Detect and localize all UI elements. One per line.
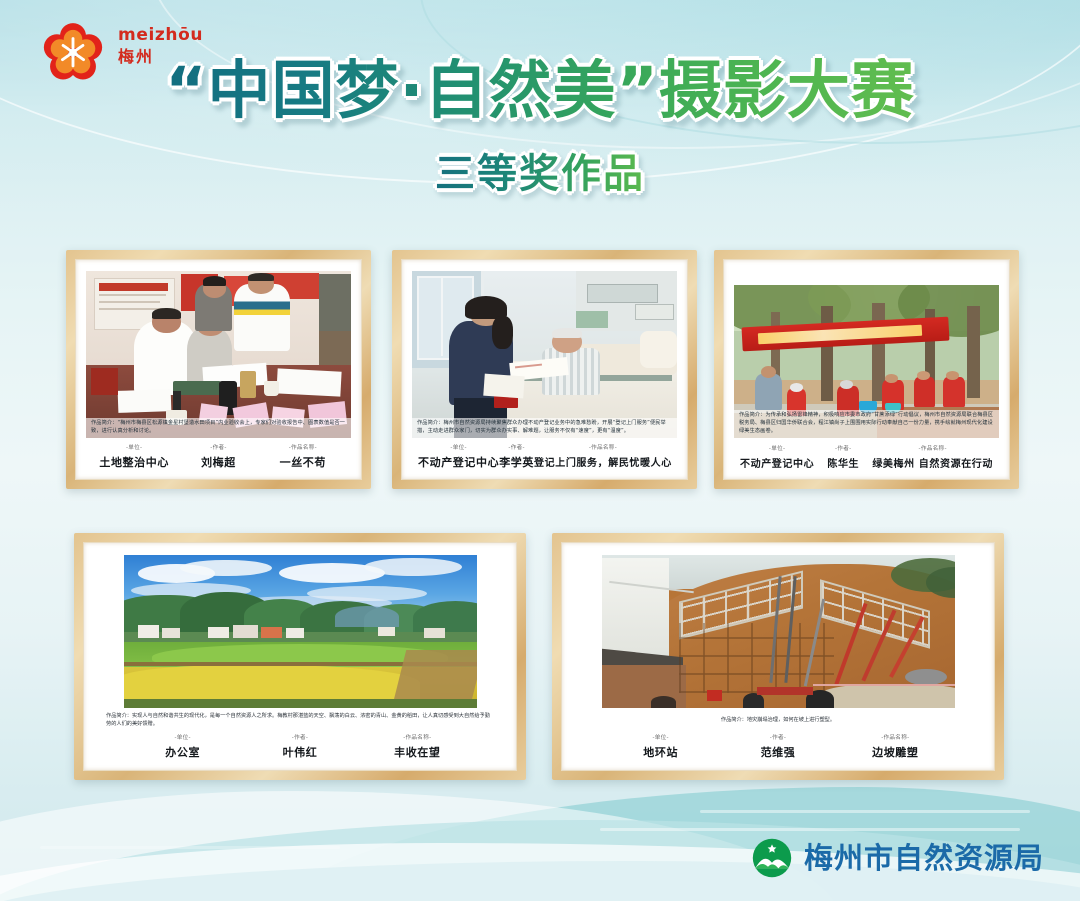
author-label: -作者- — [241, 735, 358, 742]
entry-photo-2: 作品简介：梅州市自然资源局持续聚焦群众办理不动产登记业务中的急难愁盼，开展“登记… — [412, 271, 677, 438]
work-value: 边坡雕塑 — [837, 744, 954, 760]
unit-label: -单位- — [92, 445, 176, 452]
entry-card-4[interactable]: 作品简介：实现人与自然和谐共生的现代化，是每一个自然资源人之所求。梅教村那湛蓝的… — [74, 533, 526, 780]
entry-author-2: -作者- 李学英 — [499, 445, 534, 470]
footer-brand: 梅州市自然资源局 — [752, 838, 1044, 878]
brand-pinyin: meizhōu — [118, 27, 203, 44]
author-value: 范维强 — [719, 744, 836, 760]
entry-unit-2: -单位- 不动产登记中心 — [418, 445, 499, 470]
author-label: -作者- — [719, 735, 836, 742]
unit-label: -单位- — [602, 735, 719, 742]
page-title: “中国梦·自然美”摄影大赛 — [165, 58, 915, 124]
entry-caption-2: 作品简介：梅州市自然资源局持续聚焦群众办理不动产登记业务中的急难愁盼，开展“登记… — [412, 418, 677, 438]
entry-work-3: -作品名称- 绿美梅州 自然资源在行动 — [872, 446, 993, 470]
author-value: 陈华生 — [814, 455, 872, 470]
entry-caption-1: 作品简介：“梅州市梅县区松源镇金星村垦造水田项目”内业验收会上，专家们对验收报告… — [86, 418, 351, 438]
background-streak-2 — [700, 810, 1030, 813]
work-label: -作品名称- — [837, 735, 954, 742]
work-label: -作品名称- — [872, 446, 993, 453]
entry-photo-3: 作品简介：为传承和弘扬雷锋精神，积极响应市委市政府“甘蔗添绿”行动倡议，梅州市自… — [734, 285, 999, 438]
unit-label: -单位- — [740, 446, 814, 453]
entry-photo-5 — [602, 555, 955, 708]
entry-author-4: -作者- 叶伟红 — [241, 735, 358, 760]
entry-caption-3: 作品简介：为传承和弘扬雷锋精神，积极响应市委市政府“甘蔗添绿”行动倡议，梅州市自… — [734, 410, 999, 437]
background-streak-3 — [40, 846, 340, 849]
poster-canvas: meizhōu 梅州 “中国梦·自然美”摄影大赛 三等奖作品 — [0, 0, 1080, 901]
subtitle-container: 三等奖作品 — [0, 152, 1080, 196]
entry-meta-2: -单位- 不动产登记中心 -作者- 李学英 -作品名称- 登记上门服务，解民忧暖… — [412, 442, 677, 471]
entry-caption-5: 作品简介：地灾崩塌治理，如何在坡上进行塑型。 — [576, 708, 980, 724]
unit-value: 土地整治中心 — [92, 454, 176, 470]
entry-author-5: -作者- 范维强 — [719, 735, 836, 760]
unit-value: 办公室 — [124, 744, 241, 760]
entry-card-3[interactable]: 作品简介：为传承和弘扬雷锋精神，积极响应市委市政府“甘蔗添绿”行动倡议，梅州市自… — [714, 250, 1019, 489]
author-value: 叶伟红 — [241, 744, 358, 760]
entry-unit-5: -单位- 地环站 — [602, 735, 719, 760]
entry-photo-1: 作品简介：“梅州市梅县区松源镇金星村垦造水田项目”内业验收会上，专家们对验收报告… — [86, 271, 351, 438]
entry-work-2: -作品名称- 登记上门服务，解民忧暖人心 — [534, 445, 672, 470]
entry-caption-4: 作品简介：实现人与自然和谐共生的现代化，是每一个自然资源人之所求。梅教村那湛蓝的… — [98, 708, 502, 729]
entry-card-2[interactable]: 作品简介：梅州市自然资源局持续聚焦群众办理不动产登记业务中的急难愁盼，开展“登记… — [392, 250, 697, 489]
entry-work-5: -作品名称- 边坡雕塑 — [837, 735, 954, 760]
unit-label: -单位- — [124, 735, 241, 742]
entry-meta-1: -单位- 土地整治中心 -作者- 刘梅超 -作品名称- 一丝不苟 — [86, 442, 351, 471]
work-value: 一丝不苟 — [261, 454, 345, 470]
background-streak-1 — [600, 828, 1020, 831]
author-value: 李学英 — [499, 454, 534, 470]
work-value: 登记上门服务，解民忧暖人心 — [534, 454, 672, 469]
entry-unit-4: -单位- 办公室 — [124, 735, 241, 760]
entry-meta-5: -单位- 地环站 -作者- 范维强 -作品名称- 边坡雕塑 — [576, 725, 980, 762]
entry-meta-4: -单位- 办公室 -作者- 叶伟红 -作品名称- 丰收在望 — [98, 729, 502, 762]
entry-meta-3: -单位- 不动产登记中心 -作者- 陈华生 -作品名称- 绿美梅州 自然资源在行… — [734, 438, 999, 471]
work-label: -作品名称- — [359, 735, 476, 742]
page-subtitle: 三等奖作品 — [435, 152, 645, 196]
work-label: -作品名称- — [534, 445, 672, 452]
entry-author-1: -作者- 刘梅超 — [176, 445, 260, 470]
footer-title: 梅州市自然资源局 — [804, 844, 1044, 873]
author-label: -作者- — [499, 445, 534, 452]
author-label: -作者- — [814, 446, 872, 453]
main-title-container: “中国梦·自然美”摄影大赛 — [0, 58, 1080, 124]
unit-value: 地环站 — [602, 744, 719, 760]
entry-work-4: -作品名称- 丰收在望 — [359, 735, 476, 760]
entry-photo-4 — [124, 555, 477, 708]
work-label: -作品名称- — [261, 445, 345, 452]
mountain-circle-logo-icon — [752, 838, 792, 878]
entry-work-1: -作品名称- 一丝不苟 — [261, 445, 345, 470]
work-value: 绿美梅州 自然资源在行动 — [872, 455, 993, 470]
author-label: -作者- — [176, 445, 260, 452]
entry-unit-3: -单位- 不动产登记中心 — [740, 446, 814, 470]
unit-value: 不动产登记中心 — [740, 455, 814, 470]
entry-card-1[interactable]: 作品简介：“梅州市梅县区松源镇金星村垦造水田项目”内业验收会上，专家们对验收报告… — [66, 250, 371, 489]
unit-label: -单位- — [418, 445, 499, 452]
work-value: 丰收在望 — [359, 744, 476, 760]
entry-card-5[interactable]: 作品简介：地灾崩塌治理，如何在坡上进行塑型。 -单位- 地环站 -作者- 范维强… — [552, 533, 1004, 780]
entry-unit-1: -单位- 土地整治中心 — [92, 445, 176, 470]
unit-value: 不动产登记中心 — [418, 454, 499, 470]
author-value: 刘梅超 — [176, 454, 260, 470]
entry-author-3: -作者- 陈华生 — [814, 446, 872, 470]
